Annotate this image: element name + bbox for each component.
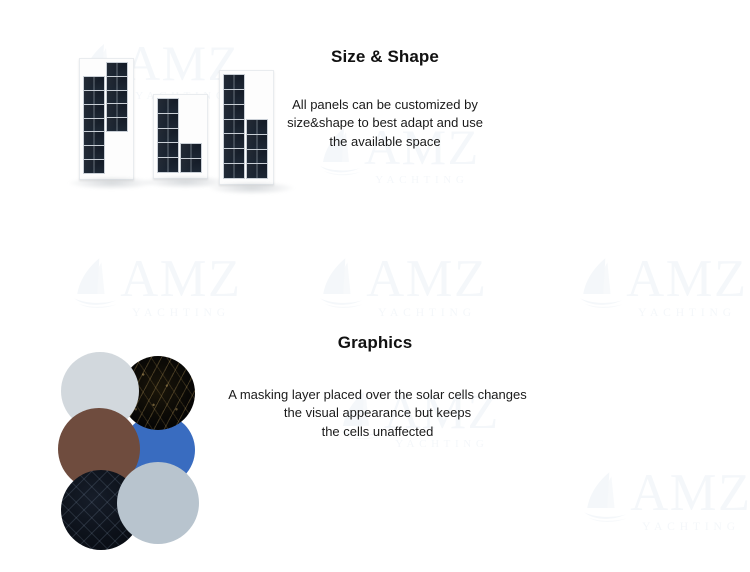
finish-swatch-circles [55,352,255,572]
body-line: the available space [250,133,520,151]
solar-cell [247,164,267,178]
body-line: size&shape to best adapt and use [250,114,520,132]
watermark-tagline: YACHTING [630,522,750,534]
panel-stepped-tall [78,58,140,178]
watermark-brand: AMZ [630,466,750,519]
page-title-size-shape: Size & Shape [265,47,505,67]
watermark-brand: AMZ [366,252,487,305]
watermark-tagline: YACHTING [364,175,480,186]
sailboat-icon [72,256,120,311]
solar-cell [107,63,127,76]
body-line: All panels can be customized by [250,96,520,114]
panel-cell-block [106,62,128,132]
solar-cell [107,118,127,131]
solar-cell [158,129,178,143]
solar-cell [84,77,104,90]
panel-cell-block [157,98,179,173]
sailboat-icon [72,256,120,316]
watermark-tagline: YACHTING [366,308,487,320]
solar-cell [224,75,244,89]
solar-cell [84,119,104,132]
sailboat-icon [578,256,626,311]
watermark-brand: AMZ [120,252,241,305]
body-text-size-shape: All panels can be customized by size&sha… [250,96,520,151]
panel-shadow [207,181,296,195]
body-text-graphics: A masking layer placed over the solar ce… [195,386,560,441]
solar-cell [107,77,127,90]
sailboat-icon [582,470,630,525]
panel-L-shape-medium [152,92,210,180]
solar-cell [158,114,178,128]
solar-cell [158,158,178,172]
solar-cell [224,134,244,148]
solar-cell [224,149,244,163]
solar-cell [181,144,201,158]
sailboat-icon [582,470,630,530]
page-title-graphics: Graphics [265,333,485,353]
solar-cell [224,90,244,104]
solar-cell [224,120,244,134]
brand-watermark: AMZYACHTING [578,252,748,319]
slide-canvas: AMZYACHTING AMZYACHTING AMZYACHTING AMZY… [0,0,750,563]
solar-cell [181,159,201,173]
solar-cell [107,91,127,104]
sailboat-icon [318,256,366,311]
solar-cell [84,105,104,118]
panel-cell-block [83,76,105,174]
solar-cell [224,105,244,119]
swatch-gray-blue [117,462,199,544]
body-line: the cells unaffected [195,423,560,441]
watermark-tagline: YACHTING [626,308,747,320]
solar-cell [84,146,104,159]
watermark-tagline: YACHTING [120,308,241,320]
solar-cell [247,150,267,164]
solar-cell [84,132,104,145]
sailboat-icon [578,256,626,316]
solar-cell [158,143,178,157]
sailboat-icon [318,256,366,316]
panel-cell-block [223,74,245,179]
panel-cell-block [180,143,202,173]
solar-cell [84,160,104,173]
brand-watermark: AMZYACHTING [318,252,488,319]
watermark-brand: AMZ [626,252,747,305]
solar-cell [224,164,244,178]
solar-cell [84,91,104,104]
solar-cell [158,99,178,113]
solar-cell [107,104,127,117]
brand-watermark: AMZYACHTING [72,252,242,319]
body-line: the visual appearance but keeps [195,404,560,422]
body-line: A masking layer placed over the solar ce… [195,386,560,404]
brand-watermark: AMZYACHTING [582,466,750,533]
